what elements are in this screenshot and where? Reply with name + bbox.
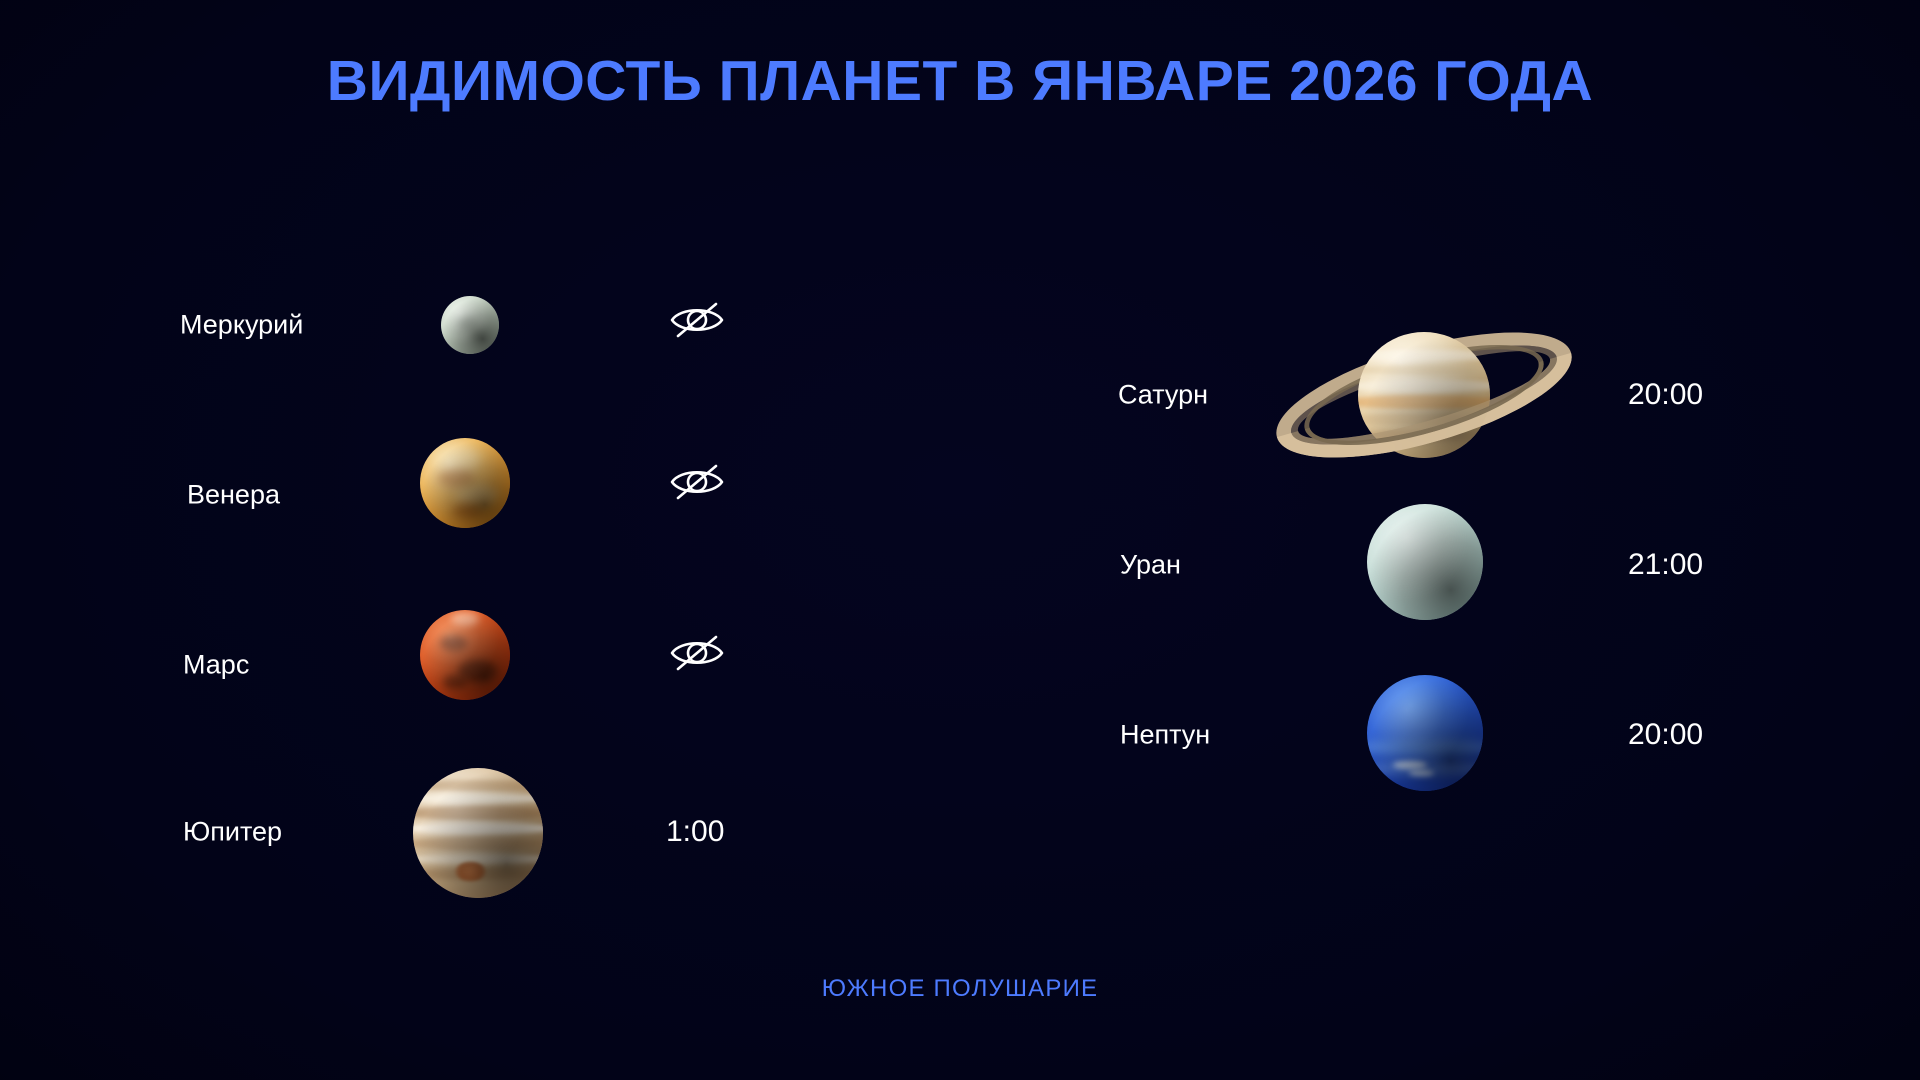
planet-label-mercury: Меркурий bbox=[180, 310, 303, 341]
eye-off-icon bbox=[668, 632, 726, 674]
planet-label-neptune: Нептун bbox=[1120, 720, 1210, 751]
page-title: ВИДИМОСТЬ ПЛАНЕТ В ЯНВАРЕ 2026 ГОДА bbox=[0, 48, 1920, 114]
planet-label-jupiter: Юпитер bbox=[183, 817, 282, 848]
planet-time-neptune: 20:00 bbox=[1628, 718, 1703, 752]
planet-label-mars: Марс bbox=[183, 650, 249, 681]
planet-body-venus bbox=[420, 438, 510, 528]
planet-body-uranus bbox=[1367, 504, 1483, 620]
hemisphere-caption: ЮЖНОЕ ПОЛУШАРИЕ bbox=[0, 975, 1920, 1003]
planet-body-jupiter bbox=[413, 768, 543, 898]
planet-time-jupiter: 1:00 bbox=[666, 815, 724, 849]
planet-label-venus: Венера bbox=[187, 480, 280, 511]
infographic-canvas: ВИДИМОСТЬ ПЛАНЕТ В ЯНВАРЕ 2026 ГОДА Мерк… bbox=[0, 0, 1920, 1080]
eye-off-icon bbox=[668, 461, 726, 503]
eye-off-icon bbox=[668, 299, 726, 341]
planet-body-mercury bbox=[441, 296, 499, 354]
planet-label-saturn: Сатурн bbox=[1118, 380, 1208, 411]
planet-time-saturn: 20:00 bbox=[1628, 378, 1703, 412]
planet-label-uranus: Уран bbox=[1120, 550, 1181, 581]
planet-time-uranus: 21:00 bbox=[1628, 548, 1703, 582]
planet-body-neptune bbox=[1367, 675, 1483, 791]
planet-body-saturn bbox=[1254, 285, 1594, 505]
planet-body-mars bbox=[420, 610, 510, 700]
